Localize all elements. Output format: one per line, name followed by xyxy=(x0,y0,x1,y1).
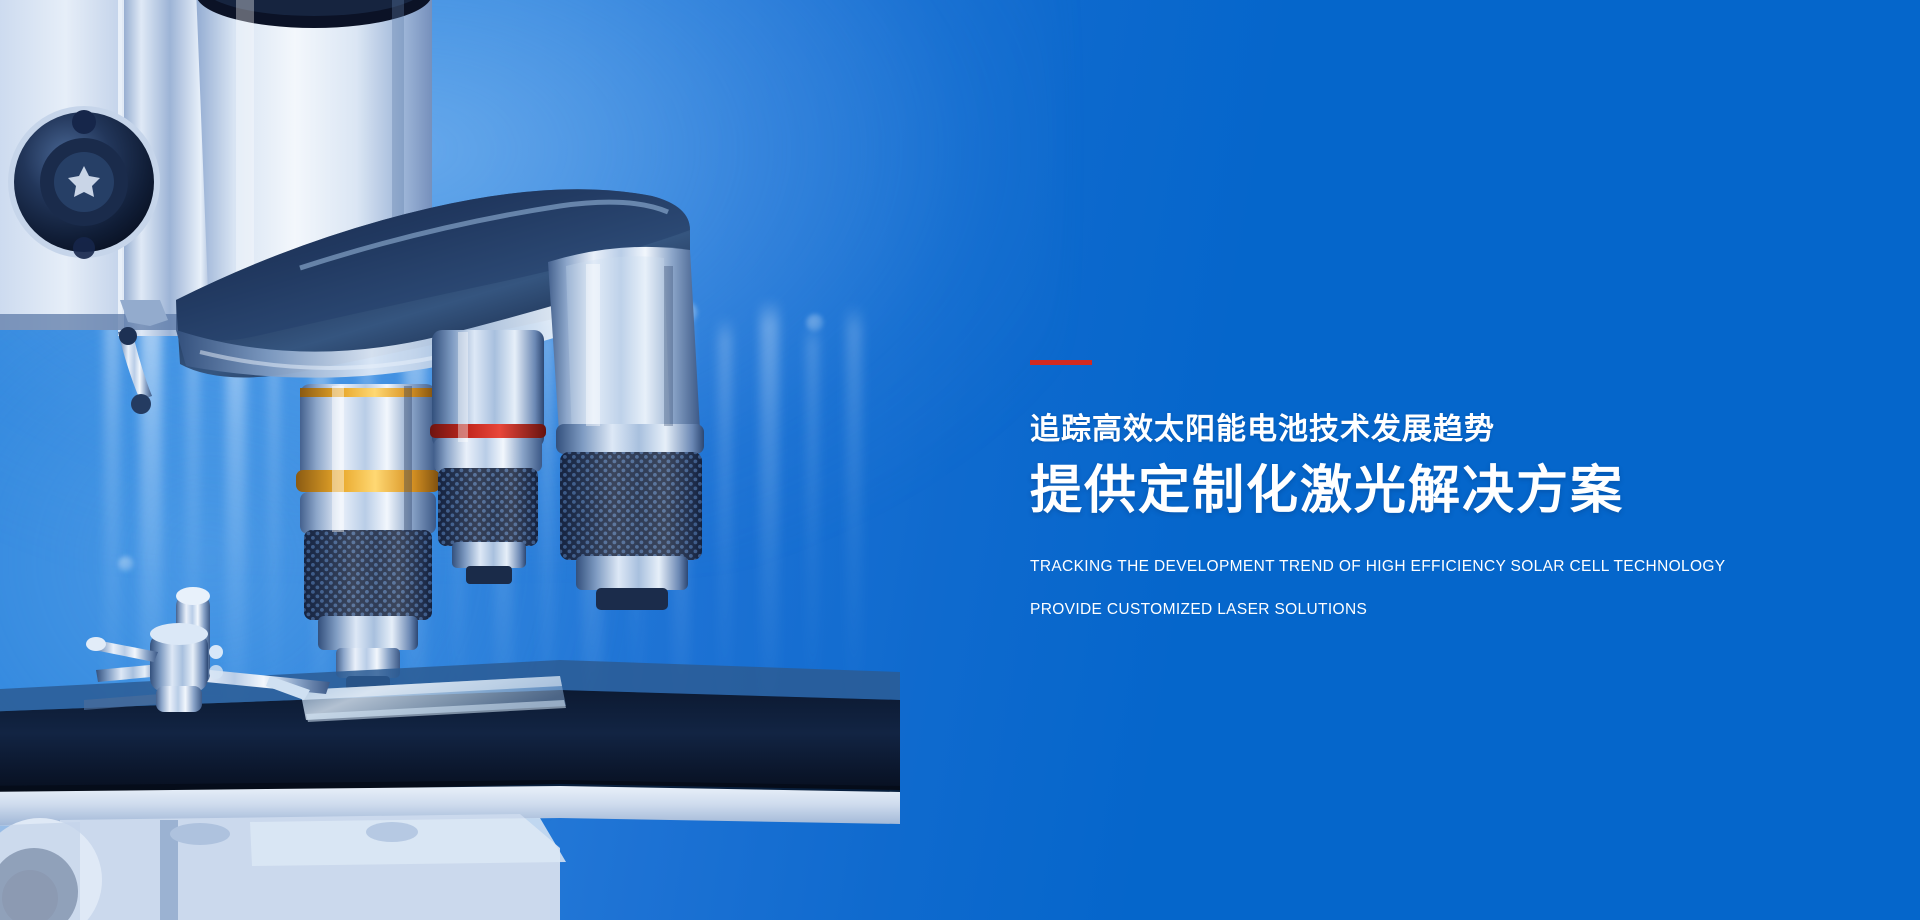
microscope-base xyxy=(0,786,900,920)
accent-rule xyxy=(1030,360,1092,365)
hero-subheadline: 追踪高效太阳能电池技术发展趋势 xyxy=(1030,411,1890,449)
microscope-stage xyxy=(0,587,900,806)
objective-lens-middle xyxy=(430,330,546,584)
objective-lens-right xyxy=(548,247,704,610)
hero-banner: 追踪高效太阳能电池技术发展趋势 提供定制化激光解决方案 TRACKING THE… xyxy=(0,0,1920,920)
hero-copy: 追踪高效太阳能电池技术发展趋势 提供定制化激光解决方案 TRACKING THE… xyxy=(1030,360,1890,625)
hero-headline: 提供定制化激光解决方案 xyxy=(1030,461,1890,522)
hero-english-line-1: TRACKING THE DEVELOPMENT TREND OF HIGH E… xyxy=(1030,552,1890,581)
hero-english-line-2: PROVIDE CUSTOMIZED LASER SOLUTIONS xyxy=(1030,595,1890,624)
microscope-image xyxy=(0,0,920,920)
objective-lens-left xyxy=(296,384,440,690)
